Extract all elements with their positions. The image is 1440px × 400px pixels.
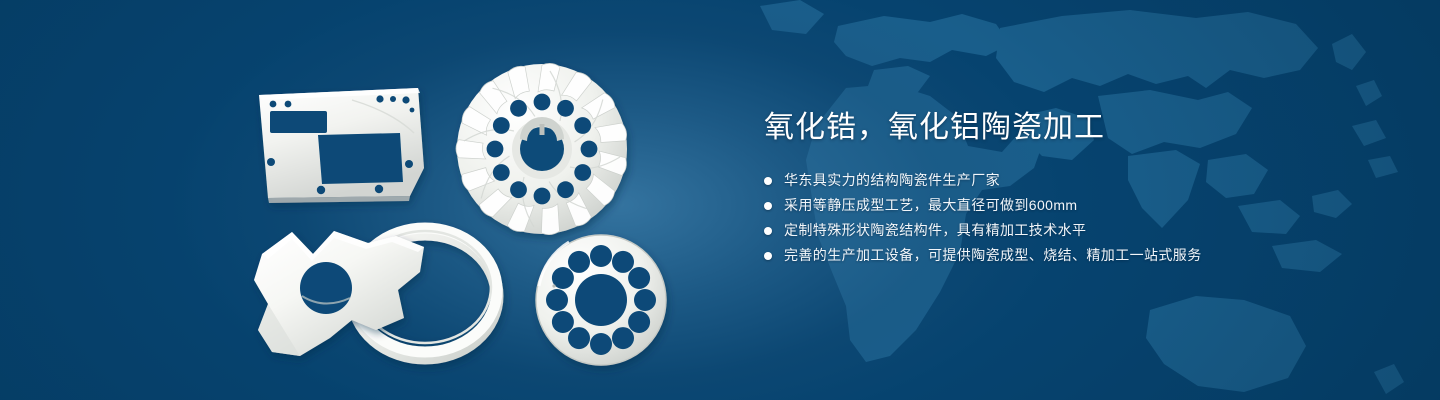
list-item: 定制特殊形状陶瓷结构件，具有精加工技术水平 bbox=[764, 220, 1404, 241]
ceramic-impeller-part bbox=[455, 63, 629, 236]
list-item: 完善的生产加工设备，可提供陶瓷成型、烧结、精加工一站式服务 bbox=[764, 245, 1404, 266]
feature-text: 采用等静压成型工艺，最大直径可做到600mm bbox=[784, 195, 1077, 216]
list-item: 采用等静压成型工艺，最大直径可做到600mm bbox=[764, 195, 1404, 216]
feature-text: 完善的生产加工设备，可提供陶瓷成型、烧结、精加工一站式服务 bbox=[784, 245, 1202, 266]
bullet-dot-icon bbox=[764, 252, 772, 260]
feature-text: 华东具实力的结构陶瓷件生产厂家 bbox=[784, 170, 1000, 191]
feature-text: 定制特殊形状陶瓷结构件，具有精加工技术水平 bbox=[784, 220, 1086, 241]
page-title: 氧化锆，氧化铝陶瓷加工 bbox=[764, 108, 1404, 148]
ceramic-plate-part bbox=[259, 88, 424, 203]
bullet-dot-icon bbox=[764, 177, 772, 185]
promo-banner: 氧化锆，氧化铝陶瓷加工 华东具实力的结构陶瓷件生产厂家 采用等静压成型工艺，最大… bbox=[0, 0, 1440, 400]
list-item: 华东具实力的结构陶瓷件生产厂家 bbox=[764, 170, 1404, 191]
ceramic-perforated-disc-part bbox=[536, 235, 666, 365]
ceramic-products-image bbox=[0, 0, 740, 400]
bullet-dot-icon bbox=[764, 202, 772, 210]
bullet-dot-icon bbox=[764, 227, 772, 235]
banner-copy: 氧化锆，氧化铝陶瓷加工 华东具实力的结构陶瓷件生产厂家 采用等静压成型工艺，最大… bbox=[764, 108, 1404, 270]
feature-list: 华东具实力的结构陶瓷件生产厂家 采用等静压成型工艺，最大直径可做到600mm 定… bbox=[764, 170, 1404, 266]
